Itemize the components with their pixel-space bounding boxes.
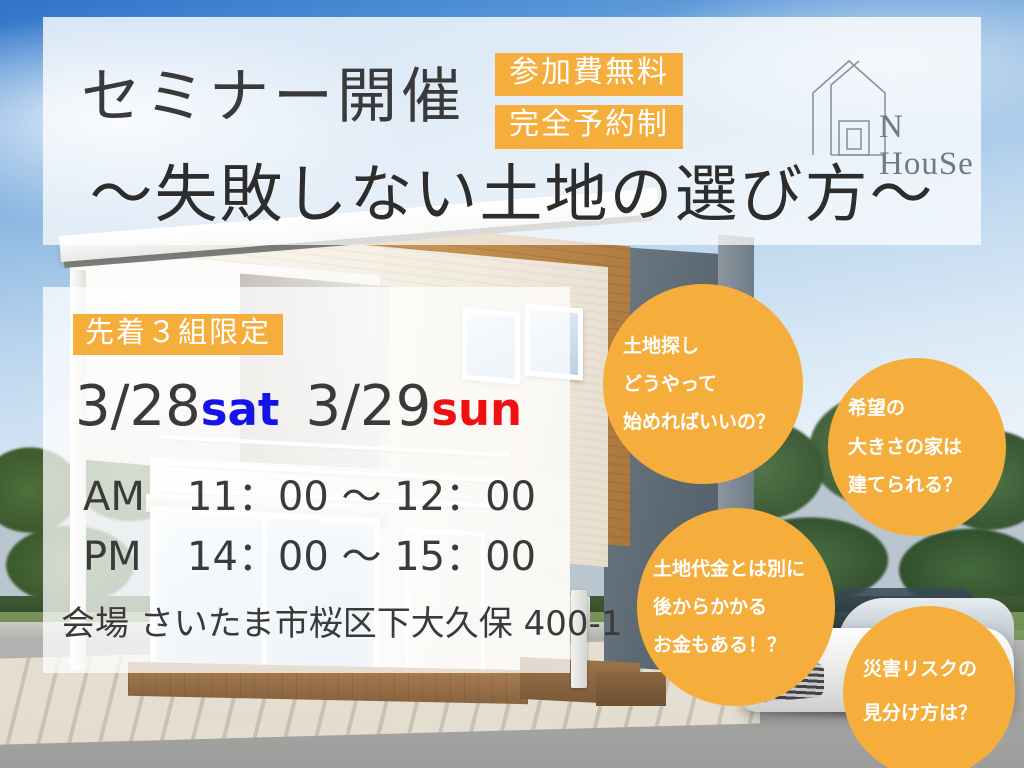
header-panel: セミナー開催 参加費無料 完全予約制 N HouSe 〜失敗し bbox=[43, 17, 981, 245]
bubble-3-line-3: お金もある！？ bbox=[653, 626, 835, 664]
question-bubble-land-search: 土地探し どうやって 始めればいいの？ bbox=[603, 284, 803, 484]
session-pm: PM14：00 〜 15：00 bbox=[83, 537, 536, 577]
bubble-2-line-3: 建てられる？ bbox=[848, 466, 1006, 505]
venue-address: 会場 さいたま市桜区下大久保 400-1 bbox=[61, 607, 622, 641]
question-bubble-extra-costs: 土地代金とは別に 後からかかる お金もある！？ bbox=[637, 508, 835, 706]
badge-free-entry: 参加費無料 bbox=[495, 53, 683, 96]
wood-step-2 bbox=[596, 672, 666, 706]
brand-logo: N HouSe bbox=[803, 55, 993, 165]
seminar-subtitle: 〜失敗しない土地の選び方〜 bbox=[43, 157, 981, 233]
title-row: セミナー開催 参加費無料 完全予約制 N HouSe bbox=[43, 45, 981, 155]
bubble-4-line-2: 見分け方は？ bbox=[863, 692, 1015, 736]
session-am-label: AM bbox=[83, 477, 187, 517]
event-dates: 3/28sat3/29sun bbox=[75, 379, 522, 435]
session-am-time: 11：00 〜 12：00 bbox=[187, 474, 536, 520]
bubble-4-line-1: 災害リスクの bbox=[863, 648, 1015, 692]
event-info-panel: 先着３組限定 3/28sat3/29sun AM11：00 〜 12：00 PM… bbox=[43, 287, 570, 673]
question-bubble-house-size: 希望の 大きさの家は 建てられる？ bbox=[828, 358, 1006, 536]
dow-saturday: sat bbox=[201, 383, 280, 436]
question-bubble-disaster-risk: 災害リスクの 見分け方は？ bbox=[843, 606, 1015, 768]
bubble-1-line-3: 始めればいいの？ bbox=[623, 403, 803, 441]
session-pm-label: PM bbox=[83, 537, 187, 577]
seminar-poster: セミナー開催 参加費無料 完全予約制 N HouSe 〜失敗し bbox=[0, 0, 1024, 768]
badge-capacity-limit: 先着３組限定 bbox=[73, 314, 283, 355]
date-2: 3/29 bbox=[305, 374, 431, 439]
page-title: セミナー開催 bbox=[81, 67, 465, 127]
dow-sunday: sun bbox=[431, 383, 522, 436]
bubble-1-line-2: どうやって bbox=[623, 365, 803, 403]
bubble-2-line-2: 大きさの家は bbox=[848, 428, 1006, 467]
badge-reservation-required: 完全予約制 bbox=[495, 105, 683, 148]
date-1: 3/28 bbox=[75, 374, 201, 439]
bubble-3-line-1: 土地代金とは別に bbox=[653, 550, 835, 588]
bubble-1-line-1: 土地探し bbox=[623, 327, 803, 365]
bubble-2-line-1: 希望の bbox=[848, 389, 1006, 428]
header-badges: 参加費無料 完全予約制 bbox=[495, 53, 683, 149]
session-am: AM11：00 〜 12：00 bbox=[83, 477, 536, 517]
session-pm-time: 14：00 〜 15：00 bbox=[187, 534, 536, 580]
bubble-3-line-2: 後からかかる bbox=[653, 588, 835, 626]
